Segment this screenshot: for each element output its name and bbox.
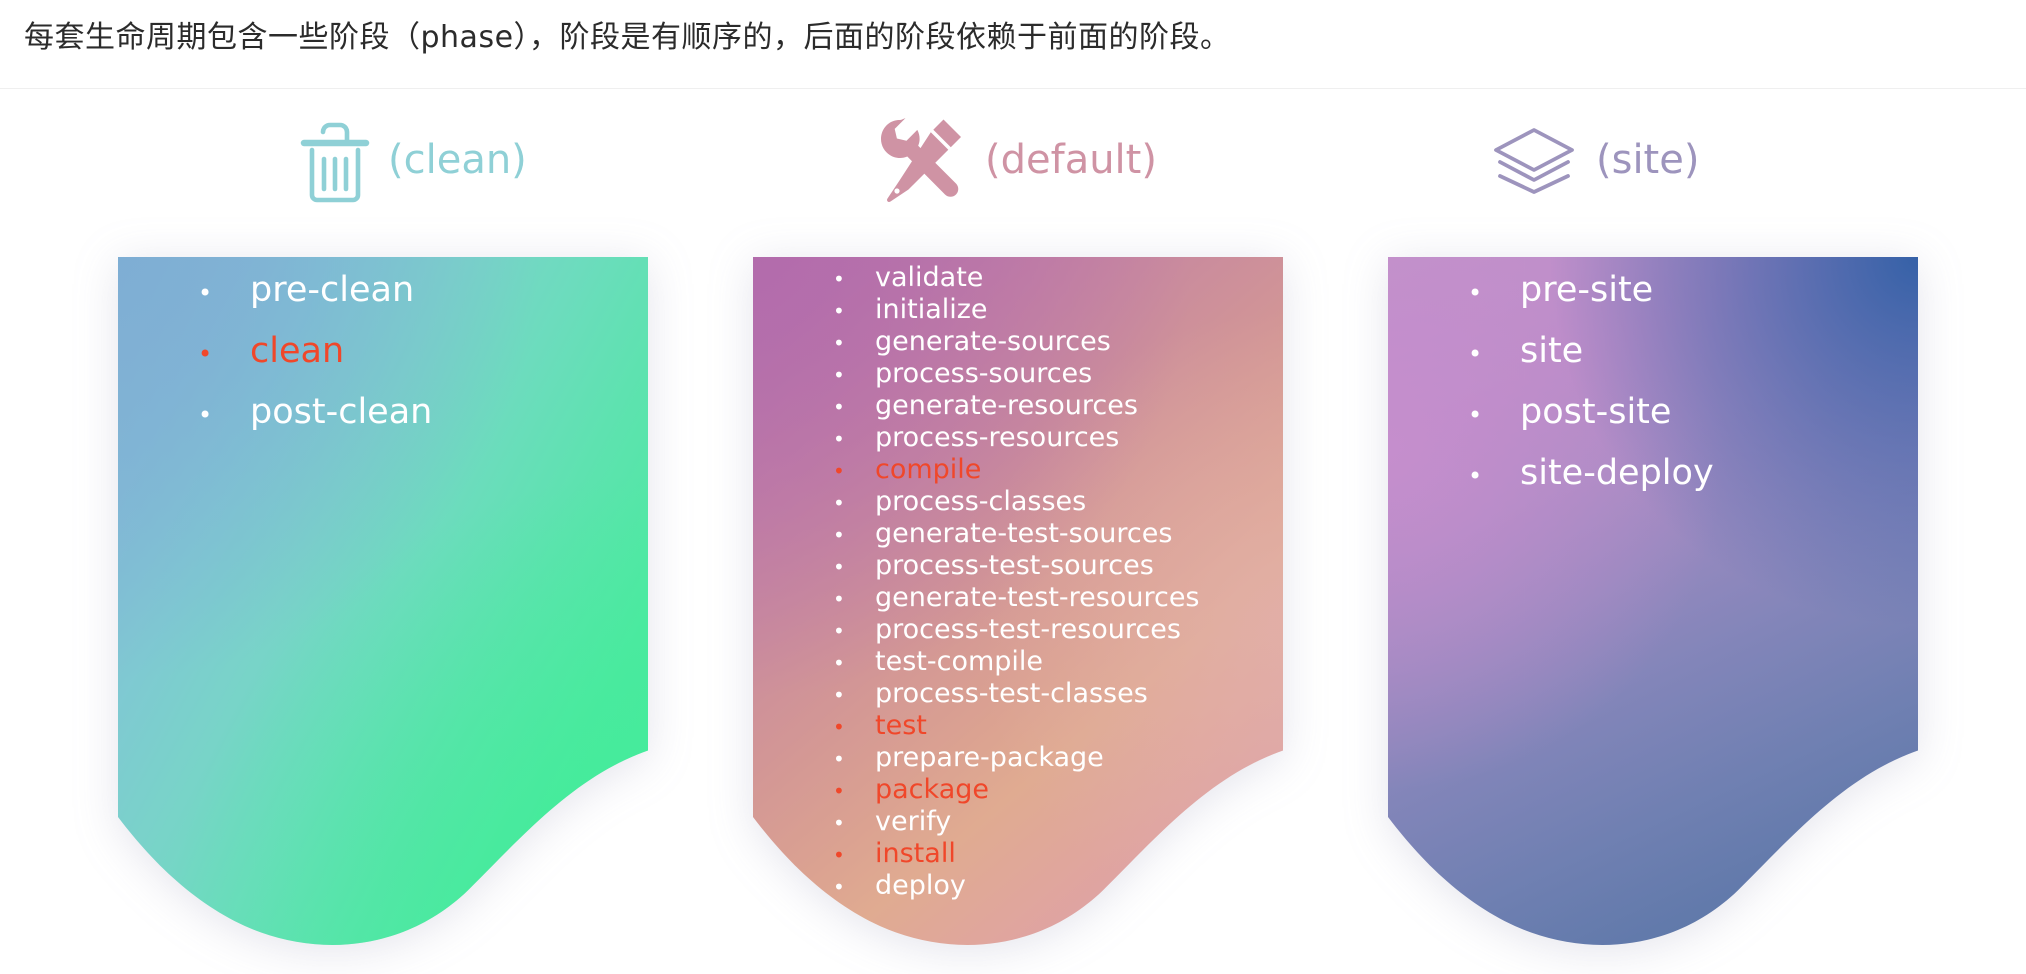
layers-stack-icon (1488, 124, 1580, 196)
phase-item[interactable]: • post-site (1388, 392, 1918, 453)
bullet-icon: • (833, 589, 875, 609)
bullet-icon: • (1468, 403, 1520, 427)
phase-item[interactable]: •process-test-sources (753, 550, 1283, 582)
page-heading: 每套生命周期包含一些阶段（phase），阶段是有顺序的，后面的阶段依赖于前面的阶… (24, 18, 1231, 58)
column-header-clean: (clean) (298, 110, 527, 210)
column-label-clean: (clean) (388, 140, 527, 180)
phase-name: generate-test-sources (875, 518, 1172, 549)
phase-name: process-test-sources (875, 550, 1154, 581)
phase-list-clean: • pre-clean • clean • post-clean (118, 270, 648, 453)
phase-name: process-classes (875, 486, 1086, 517)
bullet-icon: • (833, 653, 875, 673)
phase-item[interactable]: • pre-site (1388, 270, 1918, 331)
phase-item[interactable]: • clean (118, 331, 648, 392)
phase-name: package (875, 774, 989, 805)
column-label-site: (site) (1596, 140, 1699, 180)
phase-name: compile (875, 454, 981, 485)
phase-item[interactable]: • post-clean (118, 392, 648, 453)
phase-item[interactable]: •generate-test-resources (753, 582, 1283, 614)
bullet-icon: • (833, 397, 875, 417)
bullet-icon: • (833, 365, 875, 385)
phase-list-site: • pre-site • site • post-site • site-dep… (1388, 270, 1918, 514)
phase-list-default: •validate •initialize •generate-sources … (753, 262, 1283, 902)
phase-name: verify (875, 806, 951, 837)
phase-name: generate-sources (875, 326, 1111, 357)
column-header-site: (site) (1488, 110, 1699, 210)
phase-item[interactable]: • site-deploy (1388, 453, 1918, 514)
column-label-default: (default) (985, 140, 1157, 180)
bullet-icon: • (833, 525, 875, 545)
phase-name: validate (875, 262, 983, 293)
phase-item[interactable]: •initialize (753, 294, 1283, 326)
phase-item[interactable]: •prepare-package (753, 742, 1283, 774)
phase-name: test (875, 710, 927, 741)
phase-name: process-sources (875, 358, 1092, 389)
bullet-icon: • (833, 845, 875, 865)
phase-item[interactable]: •test (753, 710, 1283, 742)
bullet-icon: • (1468, 281, 1520, 305)
wrench-screwdriver-icon (873, 112, 969, 208)
phase-name: install (875, 838, 956, 869)
phase-name: site-deploy (1520, 453, 1714, 493)
phase-item[interactable]: •process-test-classes (753, 678, 1283, 710)
bullet-icon: • (833, 781, 875, 801)
phase-item[interactable]: •verify (753, 806, 1283, 838)
bullet-icon: • (1468, 464, 1520, 488)
phase-item[interactable]: •validate (753, 262, 1283, 294)
bullet-icon: • (833, 429, 875, 449)
phase-item[interactable]: •deploy (753, 870, 1283, 902)
bullet-icon: • (833, 493, 875, 513)
phase-name: clean (250, 331, 344, 371)
phase-name: generate-test-resources (875, 582, 1200, 613)
phase-name: pre-site (1520, 270, 1653, 310)
bullet-icon: • (833, 685, 875, 705)
phase-name: process-resources (875, 422, 1119, 453)
bullet-icon: • (833, 717, 875, 737)
phase-item[interactable]: •test-compile (753, 646, 1283, 678)
phase-name: prepare-package (875, 742, 1104, 773)
phase-name: process-test-resources (875, 614, 1181, 645)
bullet-icon: • (833, 877, 875, 897)
bullet-icon: • (833, 301, 875, 321)
bullet-icon: • (833, 813, 875, 833)
phase-name: initialize (875, 294, 988, 325)
bullet-icon: • (833, 461, 875, 481)
phase-name: post-site (1520, 392, 1671, 432)
bullet-icon: • (198, 403, 250, 427)
bullet-icon: • (833, 333, 875, 353)
bullet-icon: • (1468, 342, 1520, 366)
phase-name: deploy (875, 870, 966, 901)
phase-item[interactable]: • pre-clean (118, 270, 648, 331)
bullet-icon: • (833, 557, 875, 577)
phase-item[interactable]: •process-test-resources (753, 614, 1283, 646)
bullet-icon: • (833, 269, 875, 289)
bullet-icon: • (198, 342, 250, 366)
bullet-icon: • (833, 621, 875, 641)
phase-item[interactable]: • site (1388, 331, 1918, 392)
phase-item[interactable]: •package (753, 774, 1283, 806)
phase-item[interactable]: •compile (753, 454, 1283, 486)
phase-item[interactable]: •generate-test-sources (753, 518, 1283, 550)
phase-name: site (1520, 331, 1583, 371)
bullet-icon: • (198, 281, 250, 305)
bullet-icon: • (833, 749, 875, 769)
heading-divider (0, 88, 2026, 89)
phase-item[interactable]: •process-sources (753, 358, 1283, 390)
phase-name: post-clean (250, 392, 432, 432)
phase-item[interactable]: •generate-resources (753, 390, 1283, 422)
phase-name: generate-resources (875, 390, 1138, 421)
phase-item[interactable]: •process-classes (753, 486, 1283, 518)
phase-item[interactable]: •process-resources (753, 422, 1283, 454)
trash-bin-icon (298, 117, 372, 203)
phase-name: process-test-classes (875, 678, 1148, 709)
phase-name: test-compile (875, 646, 1043, 677)
phase-name: pre-clean (250, 270, 414, 310)
column-header-default: (default) (873, 110, 1157, 210)
phase-item[interactable]: •install (753, 838, 1283, 870)
phase-item[interactable]: •generate-sources (753, 326, 1283, 358)
